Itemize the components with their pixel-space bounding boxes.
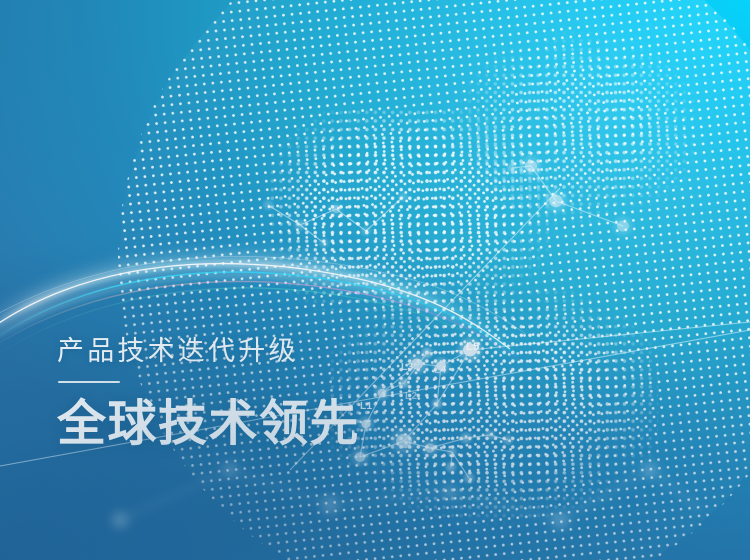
network-node bbox=[509, 165, 515, 171]
headline-block: 产品技术迭代升级 全球技术领先 bbox=[57, 334, 477, 453]
banner-title: 全球技术领先 bbox=[57, 395, 477, 453]
title-divider bbox=[58, 381, 120, 383]
network-node bbox=[448, 464, 455, 470]
network-node bbox=[355, 452, 366, 462]
network-background-blurred bbox=[112, 463, 700, 528]
network-node bbox=[505, 437, 511, 443]
network-node bbox=[466, 475, 473, 481]
network-node bbox=[549, 195, 563, 208]
network-node bbox=[265, 202, 272, 208]
banner-subtitle: 产品技术迭代升级 bbox=[57, 334, 477, 368]
network-node bbox=[487, 432, 493, 438]
network-node bbox=[525, 160, 537, 171]
tech-banner: L1L2L3L4L5 产品技术迭代升级 全球技术领先 bbox=[0, 0, 750, 560]
network-node bbox=[400, 194, 406, 200]
